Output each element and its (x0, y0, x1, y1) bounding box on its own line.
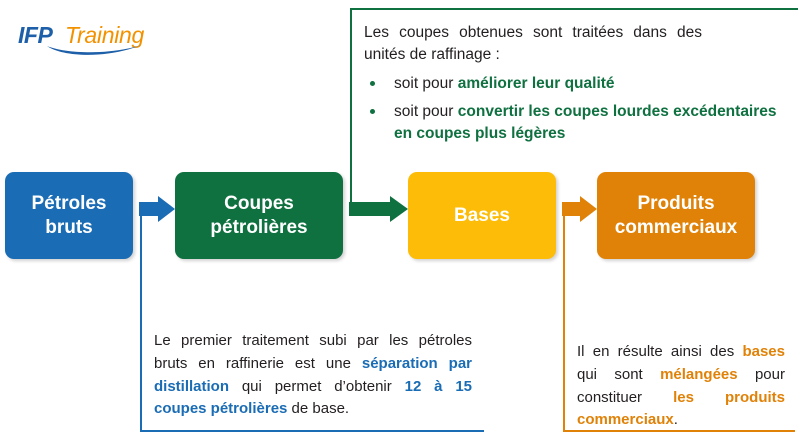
bullet-highlight: améliorer leur qualité (458, 75, 615, 92)
process-box-crude-oil[interactable]: Pétroles bruts (5, 172, 133, 259)
slide-canvas: IFP Training Pétroles bruts Coupes pétro… (0, 0, 800, 447)
bullet-prefix: soit pour (394, 75, 458, 92)
process-box-label: Pétroles bruts (11, 192, 127, 239)
bullet-prefix: soit pour (394, 103, 458, 120)
process-box-commercial-products[interactable]: Produits commerciaux (597, 172, 755, 259)
text-segment: . (674, 411, 678, 428)
bullet-dot-icon (370, 81, 375, 86)
callout-blending: Il en résulte ainsi des bases qui sont m… (563, 333, 795, 432)
text-segment: qui permet d’obtenir (229, 378, 405, 395)
callout-refining-units: Les coupes obtenues sont traitées dans d… (350, 8, 798, 140)
arrow-shaft (349, 202, 391, 216)
callout-top-bullet-list: soit pour améliorer leur qualité soit po… (364, 73, 798, 144)
text-segment: de base. (287, 400, 349, 417)
arrow-right-icon-blue (139, 196, 175, 222)
arrow-head (580, 196, 597, 222)
arrow-head (390, 196, 408, 222)
callout-top-lead: Les coupes obtenues sont traitées dans d… (364, 22, 702, 66)
bullet-dot-icon (370, 109, 375, 114)
swoosh-icon (46, 44, 142, 58)
arrow-shaft (139, 202, 159, 216)
process-box-label: Produits commerciaux (603, 192, 749, 239)
process-box-label: Coupes pétrolières (181, 192, 337, 239)
process-box-label: Bases (454, 204, 510, 228)
callout-bl-paragraph: Le premier traitement subi par les pétro… (154, 330, 472, 421)
callout-top-bullet-item: soit pour améliorer leur qualité (364, 73, 798, 94)
arrow-right-icon-orange (562, 196, 597, 222)
arrow-right-icon-green (349, 196, 408, 222)
process-box-petroleum-cuts[interactable]: Coupes pétrolières (175, 172, 343, 259)
ifp-training-logo: IFP Training (18, 22, 143, 56)
text-segment: Il en résulte ainsi des (577, 343, 742, 360)
arrow-head (158, 196, 175, 222)
text-highlight: mélangées (660, 366, 738, 383)
arrow-shaft (562, 202, 581, 216)
callout-distillation: Le premier traitement subi par les pétro… (140, 320, 484, 432)
callout-top-bullet-item: soit pour convertir les coupes lourdes e… (364, 101, 798, 144)
text-highlight: bases (742, 343, 785, 360)
callout-br-paragraph: Il en résulte ainsi des bases qui sont m… (577, 341, 785, 432)
text-segment: qui sont (577, 366, 660, 383)
process-box-bases[interactable]: Bases (408, 172, 556, 259)
